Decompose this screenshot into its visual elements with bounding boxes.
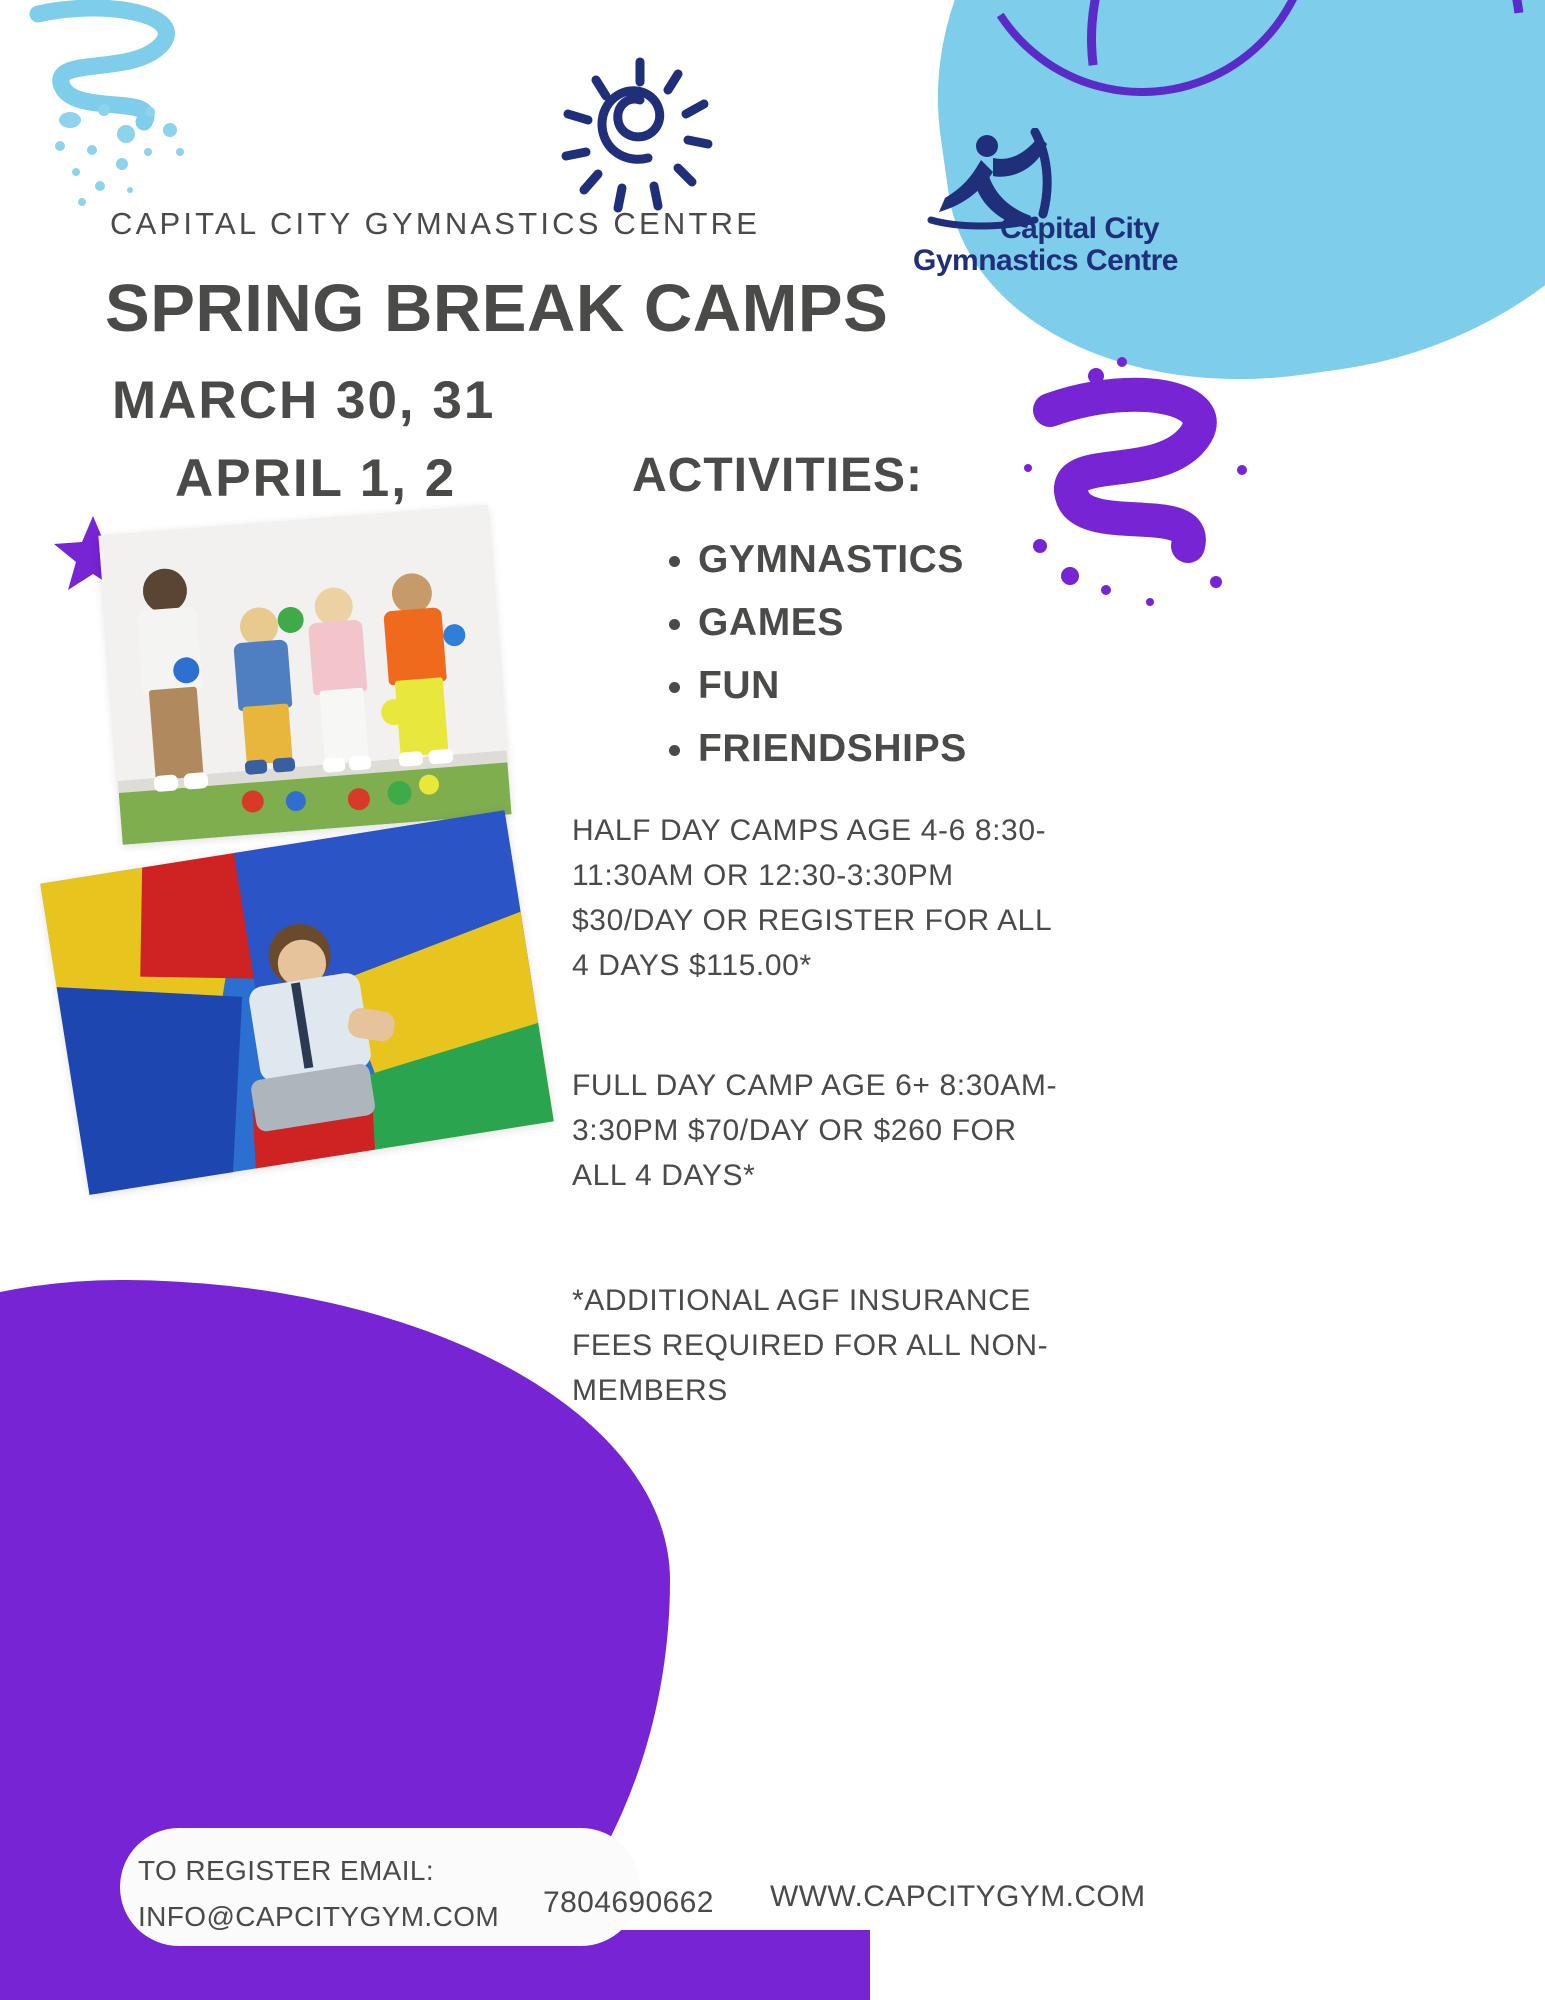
list-item: GAMES [698, 591, 967, 654]
blue-blob-decoration [897, 0, 1545, 420]
flyer-page: Capital City Gymnastics Centre CAPITAL C… [0, 0, 1545, 2000]
eyebrow-text: CAPITAL CITY GYMNASTICS CENTRE [110, 206, 760, 242]
gymnast-figure-icon [915, 128, 1065, 238]
blue-scribble-icon [10, 0, 230, 190]
footer-phone[interactable]: 7804690662 [543, 1886, 714, 1920]
purple-arc-decoration-2 [937, 0, 1347, 128]
footer-email-label: TO REGISTER EMAIL: [138, 1848, 558, 1894]
half-day-info: HALF DAY CAMPS AGE 4-6 8:30-11:30AM OR 1… [572, 808, 1072, 988]
full-day-info: FULL DAY CAMP AGE 6+ 8:30AM-3:30PM $70/D… [572, 1063, 1072, 1198]
photo-kids-playing [98, 505, 511, 845]
page-title: SPRING BREAK CAMPS [105, 270, 888, 347]
logo-line1: Capital City [1000, 212, 1159, 246]
date-line-2: APRIL 1, 2 [175, 448, 456, 509]
list-item: FRIENDSHIPS [698, 717, 967, 780]
insurance-note: *ADDITIONAL AGF INSURANCE FEES REQUIRED … [572, 1278, 1072, 1413]
activities-list: GYMNASTICS GAMES FUN FRIENDSHIPS [660, 528, 967, 780]
photo-parachute-play [40, 810, 553, 1195]
activity-label: GAMES [698, 601, 844, 644]
activity-label: GYMNASTICS [698, 538, 964, 581]
activity-label: FRIENDSHIPS [698, 727, 967, 770]
logo-line2: Gymnastics Centre [913, 244, 1178, 278]
date-line-1: MARCH 30, 31 [112, 370, 495, 431]
footer-email: TO REGISTER EMAIL: INFO@CAPCITYGYM.COM [138, 1848, 558, 1940]
activities-heading: ACTIVITIES: [632, 448, 923, 503]
sun-doodle-icon [540, 40, 740, 230]
list-item: GYMNASTICS [698, 528, 967, 591]
logo: Capital City Gymnastics Centre [905, 128, 1195, 278]
purple-scribble-icon [1010, 350, 1260, 620]
list-item: FUN [698, 654, 967, 717]
activity-label: FUN [698, 664, 780, 707]
footer-email-address[interactable]: INFO@CAPCITYGYM.COM [138, 1894, 558, 1940]
footer-website[interactable]: WWW.CAPCITYGYM.COM [770, 1880, 1146, 1914]
purple-arc-decoration [999, 0, 1545, 346]
